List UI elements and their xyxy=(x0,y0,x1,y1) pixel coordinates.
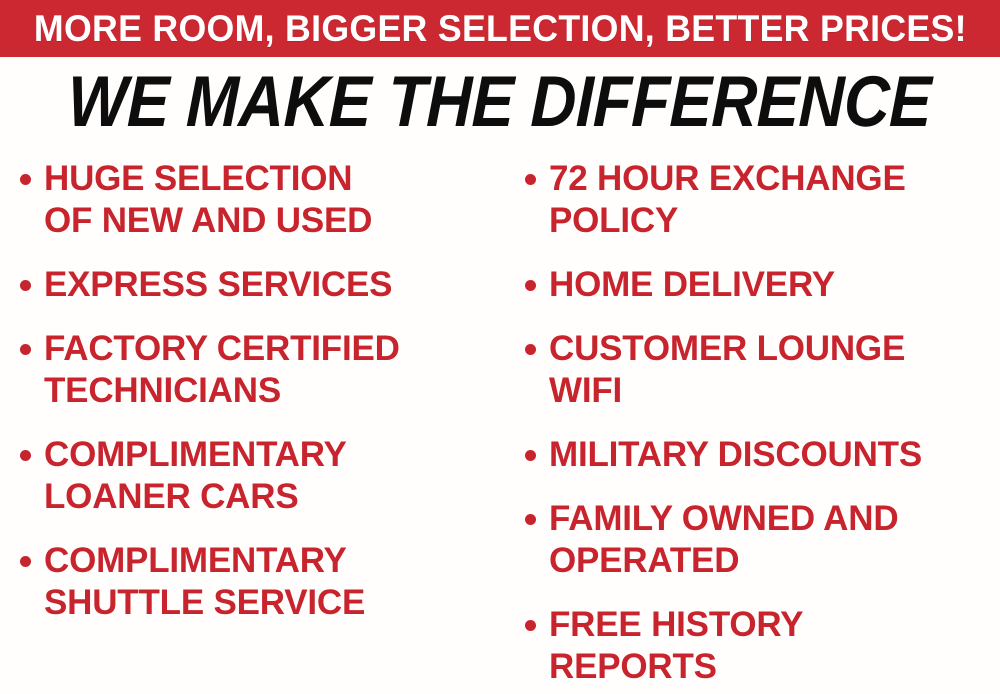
headline-container: WE MAKE THE DIFFERENCE xyxy=(0,64,1000,140)
list-item-label: FACTORY CERTIFIED TECHNICIANS xyxy=(44,328,501,412)
list-item: MILITARY DISCOUNTS xyxy=(525,434,1000,476)
list-item-label: CUSTOMER LOUNGE WIFI xyxy=(549,328,1000,412)
bullet-dot-icon xyxy=(525,344,536,355)
top-banner: MORE ROOM, BIGGER SELECTION, BETTER PRIC… xyxy=(0,0,1000,57)
page-title: WE MAKE THE DIFFERENCE xyxy=(68,66,933,138)
list-item: FREE HISTORY REPORTS xyxy=(525,604,1000,688)
list-item: 72 HOUR EXCHANGE POLICY xyxy=(525,158,1000,242)
bullet-dot-icon xyxy=(525,174,536,185)
list-item: COMPLIMENTARY LOANER CARS xyxy=(20,434,501,518)
bullet-dot-icon xyxy=(20,450,31,461)
list-item-label: HOME DELIVERY xyxy=(549,264,1000,306)
bullet-dot-icon xyxy=(525,450,536,461)
bullet-dot-icon xyxy=(20,280,31,291)
list-item: HOME DELIVERY xyxy=(525,264,1000,306)
list-item: FACTORY CERTIFIED TECHNICIANS xyxy=(20,328,501,412)
bullet-dot-icon xyxy=(20,556,31,567)
list-item-label: MILITARY DISCOUNTS xyxy=(549,434,1000,476)
list-item: COMPLIMENTARY SHUTTLE SERVICE xyxy=(20,540,501,624)
banner-headline-text: MORE ROOM, BIGGER SELECTION, BETTER PRIC… xyxy=(34,10,967,47)
list-item: CUSTOMER LOUNGE WIFI xyxy=(525,328,1000,412)
list-item-label: 72 HOUR EXCHANGE POLICY xyxy=(549,158,1000,242)
list-item: HUGE SELECTION OF NEW AND USED xyxy=(20,158,501,242)
benefits-column-right: 72 HOUR EXCHANGE POLICY HOME DELIVERY CU… xyxy=(505,158,1000,694)
bullet-dot-icon xyxy=(20,344,31,355)
list-item-label: COMPLIMENTARY SHUTTLE SERVICE xyxy=(44,540,501,624)
dealership-benefits-poster: MORE ROOM, BIGGER SELECTION, BETTER PRIC… xyxy=(0,0,1000,694)
list-item: FAMILY OWNED AND OPERATED xyxy=(525,498,1000,582)
list-item-label: EXPRESS SERVICES xyxy=(44,264,501,306)
list-item: EXPRESS SERVICES xyxy=(20,264,501,306)
bullet-dot-icon xyxy=(20,174,31,185)
bullet-dot-icon xyxy=(525,280,536,291)
list-item-label: FREE HISTORY REPORTS xyxy=(549,604,1000,688)
list-item-label: HUGE SELECTION OF NEW AND USED xyxy=(44,158,501,242)
list-item-label: COMPLIMENTARY LOANER CARS xyxy=(44,434,501,518)
benefits-column-left: HUGE SELECTION OF NEW AND USED EXPRESS S… xyxy=(0,158,505,646)
list-item-label: FAMILY OWNED AND OPERATED xyxy=(549,498,1000,582)
benefits-columns: HUGE SELECTION OF NEW AND USED EXPRESS S… xyxy=(0,158,1000,694)
bullet-dot-icon xyxy=(525,514,536,525)
bullet-dot-icon xyxy=(525,620,536,631)
